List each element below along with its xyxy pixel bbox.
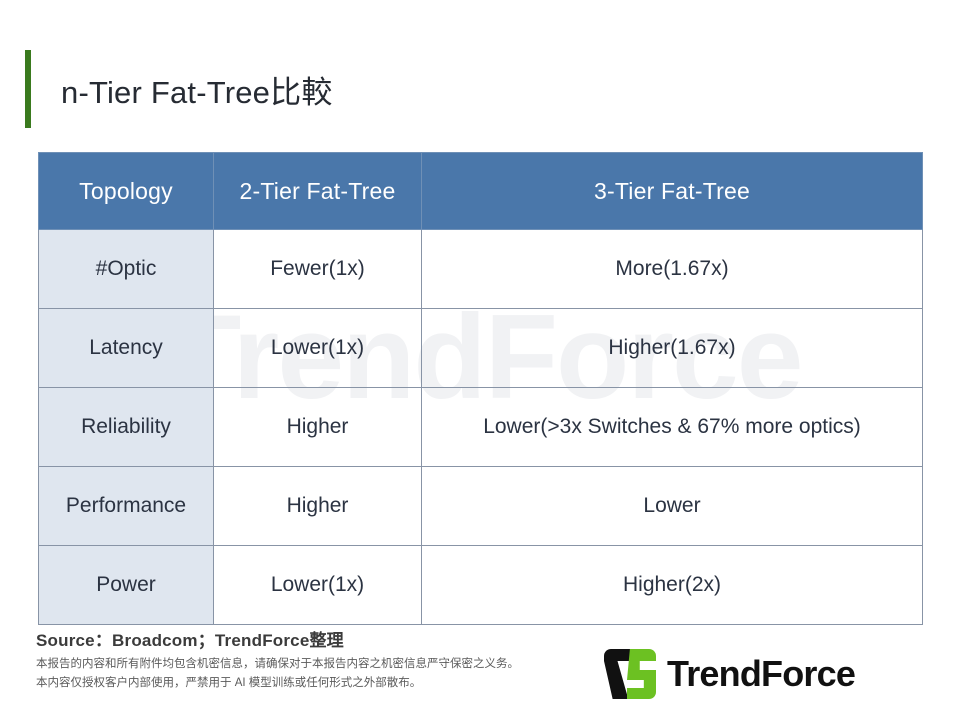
row-header-reliability: Reliability xyxy=(39,388,214,467)
column-header-topology: Topology xyxy=(39,153,214,230)
row-header-latency: Latency xyxy=(39,309,214,388)
table-row: #Optic Fewer(1x) More(1.67x) xyxy=(39,230,923,309)
table-header: Topology 2-Tier Fat-Tree 3-Tier Fat-Tree xyxy=(39,153,923,230)
disclaimer-line-1: 本报告的内容和所有附件均包含机密信息，请确保对于本报告内容之机密信息严守保密之义… xyxy=(36,655,519,674)
table-row: Power Lower(1x) Higher(2x) xyxy=(39,546,923,625)
source-note: Source：Broadcom；TrendForce整理 xyxy=(36,626,344,651)
column-header-two-tier: 2-Tier Fat-Tree xyxy=(214,153,422,230)
table-row: Latency Lower(1x) Higher(1.67x) xyxy=(39,309,923,388)
topology-comparison-table: Topology 2-Tier Fat-Tree 3-Tier Fat-Tree… xyxy=(38,152,923,625)
title-accent-bar xyxy=(25,50,31,128)
logo-mark-right-shape xyxy=(627,649,656,699)
disclaimer-line-2: 本内容仅授权客户内部使用，严禁用于 AI 模型训练或任何形式之外部散布。 xyxy=(36,674,519,693)
logo-mark-left-shape xyxy=(604,649,631,699)
trendforce-logo: TrendForce xyxy=(604,648,855,700)
column-header-three-tier: 3-Tier Fat-Tree xyxy=(422,153,923,230)
confidentiality-disclaimer: 本报告的内容和所有附件均包含机密信息，请确保对于本报告内容之机密信息严守保密之义… xyxy=(36,655,519,693)
table-row: Performance Higher Lower xyxy=(39,467,923,546)
page-title: n-Tier Fat-Tree比較 xyxy=(61,67,333,112)
slide-title-block: n-Tier Fat-Tree比較 xyxy=(25,50,333,128)
row-header-performance: Performance xyxy=(39,467,214,546)
cell-reliability-two-tier: Higher xyxy=(214,388,422,467)
cell-performance-two-tier: Higher xyxy=(214,467,422,546)
cell-optic-three-tier: More(1.67x) xyxy=(422,230,923,309)
row-header-optic: #Optic xyxy=(39,230,214,309)
table-body: #Optic Fewer(1x) More(1.67x) Latency Low… xyxy=(39,230,923,625)
table-row: Reliability Higher Lower(>3x Switches & … xyxy=(39,388,923,467)
logo-wordmark: TrendForce xyxy=(667,656,855,692)
cell-optic-two-tier: Fewer(1x) xyxy=(214,230,422,309)
cell-power-three-tier: Higher(2x) xyxy=(422,546,923,625)
cell-reliability-three-tier: Lower(>3x Switches & 67% more optics) xyxy=(422,388,923,467)
cell-latency-three-tier: Higher(1.67x) xyxy=(422,309,923,388)
cell-latency-two-tier: Lower(1x) xyxy=(214,309,422,388)
cell-performance-three-tier: Lower xyxy=(422,467,923,546)
trendforce-logo-mark-icon xyxy=(604,649,656,699)
cell-power-two-tier: Lower(1x) xyxy=(214,546,422,625)
row-header-power: Power xyxy=(39,546,214,625)
table-header-row: Topology 2-Tier Fat-Tree 3-Tier Fat-Tree xyxy=(39,153,923,230)
